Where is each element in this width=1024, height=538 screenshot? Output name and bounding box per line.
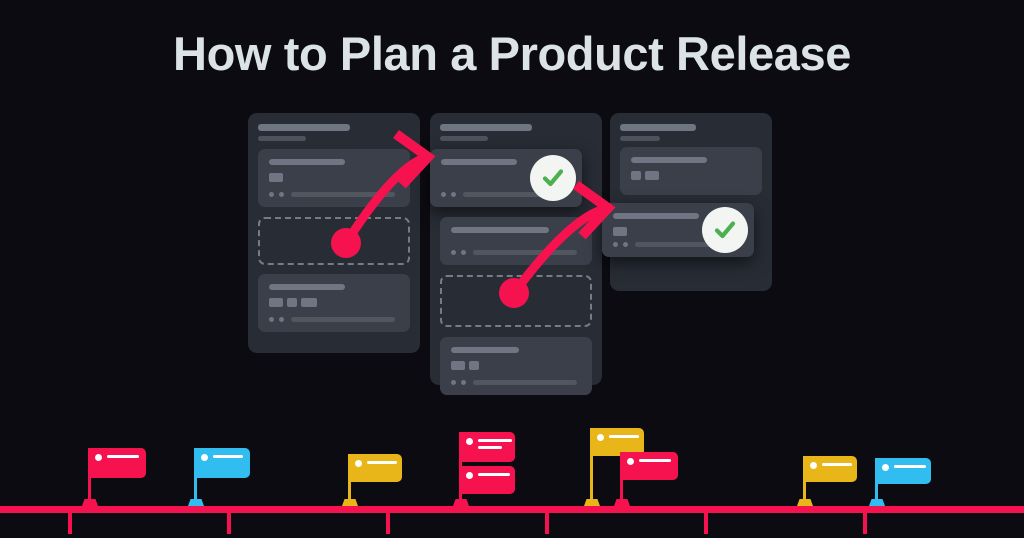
illustration-canvas: How to Plan a Product Release <box>0 0 1024 538</box>
flag-banner[interactable] <box>88 448 146 478</box>
timeline-tick <box>386 512 390 534</box>
flag-banner[interactable] <box>875 458 931 484</box>
flag-status-dot <box>95 454 102 461</box>
flag-base <box>453 499 469 506</box>
flag-text-line <box>478 439 512 442</box>
release-timeline <box>0 400 1024 538</box>
flag-base <box>188 499 204 506</box>
flag-banner[interactable] <box>620 452 678 480</box>
flag-status-dot <box>597 434 604 441</box>
flag-base <box>869 499 885 506</box>
timeline-baseline <box>0 506 1024 513</box>
drag-handle-dot <box>499 278 529 308</box>
timeline-tick <box>704 512 708 534</box>
timeline-tick <box>68 512 72 534</box>
flag-text-line <box>478 473 510 476</box>
drag-handle-dot <box>331 228 361 258</box>
flag-status-dot <box>355 460 362 467</box>
flag-banner[interactable] <box>803 456 857 482</box>
flag-status-dot <box>466 472 473 479</box>
timeline-tick <box>227 512 231 534</box>
flag-status-dot <box>627 458 634 465</box>
timeline-tick <box>545 512 549 534</box>
flag-status-dot <box>466 438 473 445</box>
timeline-tick <box>863 512 867 534</box>
flag-base <box>342 499 358 506</box>
flag-text-line <box>213 455 243 458</box>
flag-banner[interactable] <box>459 466 515 494</box>
flag-banner[interactable] <box>348 454 402 482</box>
flag-text-line <box>822 463 852 466</box>
flag-text-line <box>609 435 639 438</box>
flag-status-dot <box>201 454 208 461</box>
flag-status-dot <box>882 464 889 471</box>
drag-arrow-backlog-to-progress <box>331 134 428 258</box>
drag-arrow-progress-to-done <box>499 185 608 308</box>
flag-base <box>82 499 98 506</box>
flag-text-line <box>639 459 671 462</box>
flag-banner[interactable] <box>459 432 515 462</box>
flag-text-line <box>107 455 139 458</box>
flag-text-line <box>894 465 926 468</box>
flag-banner[interactable] <box>194 448 250 478</box>
flag-text-line <box>478 446 502 449</box>
flag-base <box>797 499 813 506</box>
flag-text-line <box>367 461 397 464</box>
flag-base <box>584 499 600 506</box>
flag-base <box>614 499 630 506</box>
flag-status-dot <box>810 462 817 469</box>
